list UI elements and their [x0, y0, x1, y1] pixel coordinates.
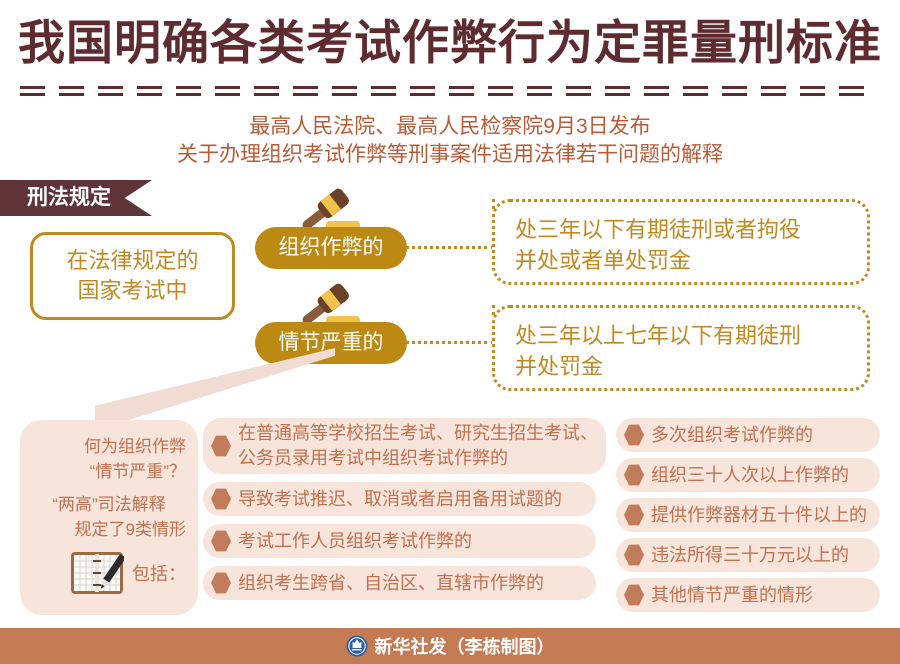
hexagon-bullet-icon: [624, 544, 644, 566]
list-item[interactable]: 组织三十人次以上作弊的: [616, 458, 880, 492]
list-item-label: 组织三十人次以上作弊的: [651, 463, 849, 488]
credit-text: 新华社发（李栋制图）: [375, 633, 555, 659]
list-item[interactable]: 导致考试推迟、取消或者启用备用试题的: [203, 482, 596, 516]
title-divider-top: [20, 86, 880, 89]
pill-serious-circumstances[interactable]: 情节严重的: [255, 322, 407, 364]
xinhua-logo-icon: [346, 635, 368, 657]
hexagon-bullet-icon: [211, 435, 231, 457]
list-item-label: 多次组织考试作弊的: [651, 423, 813, 448]
list-item[interactable]: 考试工作人员组织考试作弊的: [203, 524, 596, 558]
hexagon-bullet-icon: [624, 464, 644, 486]
scope-box: 在法律规定的 国家考试中: [30, 232, 235, 320]
list-item-label: 违法所得三十万元以上的: [651, 543, 849, 568]
penalty-1-line-1: 处三年以下有期徒刑或者拘役: [515, 214, 851, 245]
pointer-tail: [95, 348, 335, 426]
list-item[interactable]: 组织考生跨省、自治区、直辖市作弊的: [203, 566, 596, 600]
question-line-2: “情节严重”？: [32, 459, 186, 484]
list-item[interactable]: 提供作弊器材五十件以上的: [616, 498, 880, 532]
infographic-page: 我国明确各类考试作弊行为定罪量刑标准 最高人民法院、最高人民检察院9月3日发布 …: [0, 0, 900, 664]
list-item[interactable]: 多次组织考试作弊的: [616, 418, 880, 452]
connector-line-1: [405, 246, 495, 249]
footer-bar: 新华社发（李栋制图）: [0, 628, 900, 664]
penalty-2-line-2: 并处罚金: [515, 351, 851, 382]
penalty-box-2: 处三年以上七年以下有期徒刑 并处罚金: [492, 305, 870, 391]
list-item-label: 其他情节严重的情形: [651, 583, 813, 608]
connector-segment: [492, 305, 495, 315]
hexagon-bullet-icon: [211, 530, 231, 552]
penalty-2-line-1: 处三年以上七年以下有期徒刑: [515, 320, 851, 351]
penalty-1-line-2: 并处或者单处罚金: [515, 245, 851, 276]
list-item-label: 提供作弊器材五十件以上的: [651, 503, 867, 528]
list-item[interactable]: 其他情节严重的情形: [616, 578, 880, 612]
list-item-label: 考试工作人员组织考试作弊的: [238, 529, 472, 554]
list-item-label: 组织考生跨省、自治区、直辖市作弊的: [238, 571, 544, 596]
connector-line-2: [405, 341, 495, 344]
hexagon-bullet-icon: [624, 584, 644, 606]
question-line-3: “两高”司法解释: [32, 492, 186, 517]
include-label: 包括：: [132, 560, 186, 586]
hexagon-bullet-icon: [624, 504, 644, 526]
question-box: 何为组织作弊 “情节严重”？ “两高”司法解释 规定了9类情形: [20, 420, 198, 615]
list-item-label: 导致考试推迟、取消或者启用备用试题的: [238, 487, 562, 512]
list-item-label-cont: 公务员录用考试中组织考试作弊的: [238, 446, 598, 471]
connector-segment: [492, 199, 495, 209]
notebook-pen-icon: [70, 550, 124, 596]
list-item[interactable]: 违法所得三十万元以上的: [616, 538, 880, 572]
hexagon-bullet-icon: [211, 572, 231, 594]
scope-line-1: 在法律规定的: [66, 246, 198, 276]
hexagon-bullet-icon: [211, 488, 231, 510]
section-ribbon-criminal-law: 刑法规定: [0, 180, 152, 216]
page-title: 我国明确各类考试作弊行为定罪量刑标准: [0, 18, 900, 67]
subtitle-line-2: 关于办理组织考试作弊等刑事案件适用法律若干问题的解释: [0, 142, 900, 167]
penalty-box-1: 处三年以下有期徒刑或者拘役 并处或者单处罚金: [492, 199, 870, 285]
hexagon-bullet-icon: [624, 424, 644, 446]
list-item-label: 在普通高等学校招生考试、研究生招生考试、: [238, 421, 598, 446]
subtitle-line-1: 最高人民法院、最高人民检察院9月3日发布: [0, 114, 900, 139]
pill-organized-cheating[interactable]: 组织作弊的: [255, 227, 407, 269]
question-line-4: 规定了9类情形: [32, 517, 186, 542]
title-divider-bottom: [20, 93, 880, 96]
list-item[interactable]: 在普通高等学校招生考试、研究生招生考试、 公务员录用考试中组织考试作弊的: [203, 418, 606, 474]
question-line-1: 何为组织作弊: [32, 434, 186, 459]
scope-line-2: 国家考试中: [77, 276, 187, 306]
